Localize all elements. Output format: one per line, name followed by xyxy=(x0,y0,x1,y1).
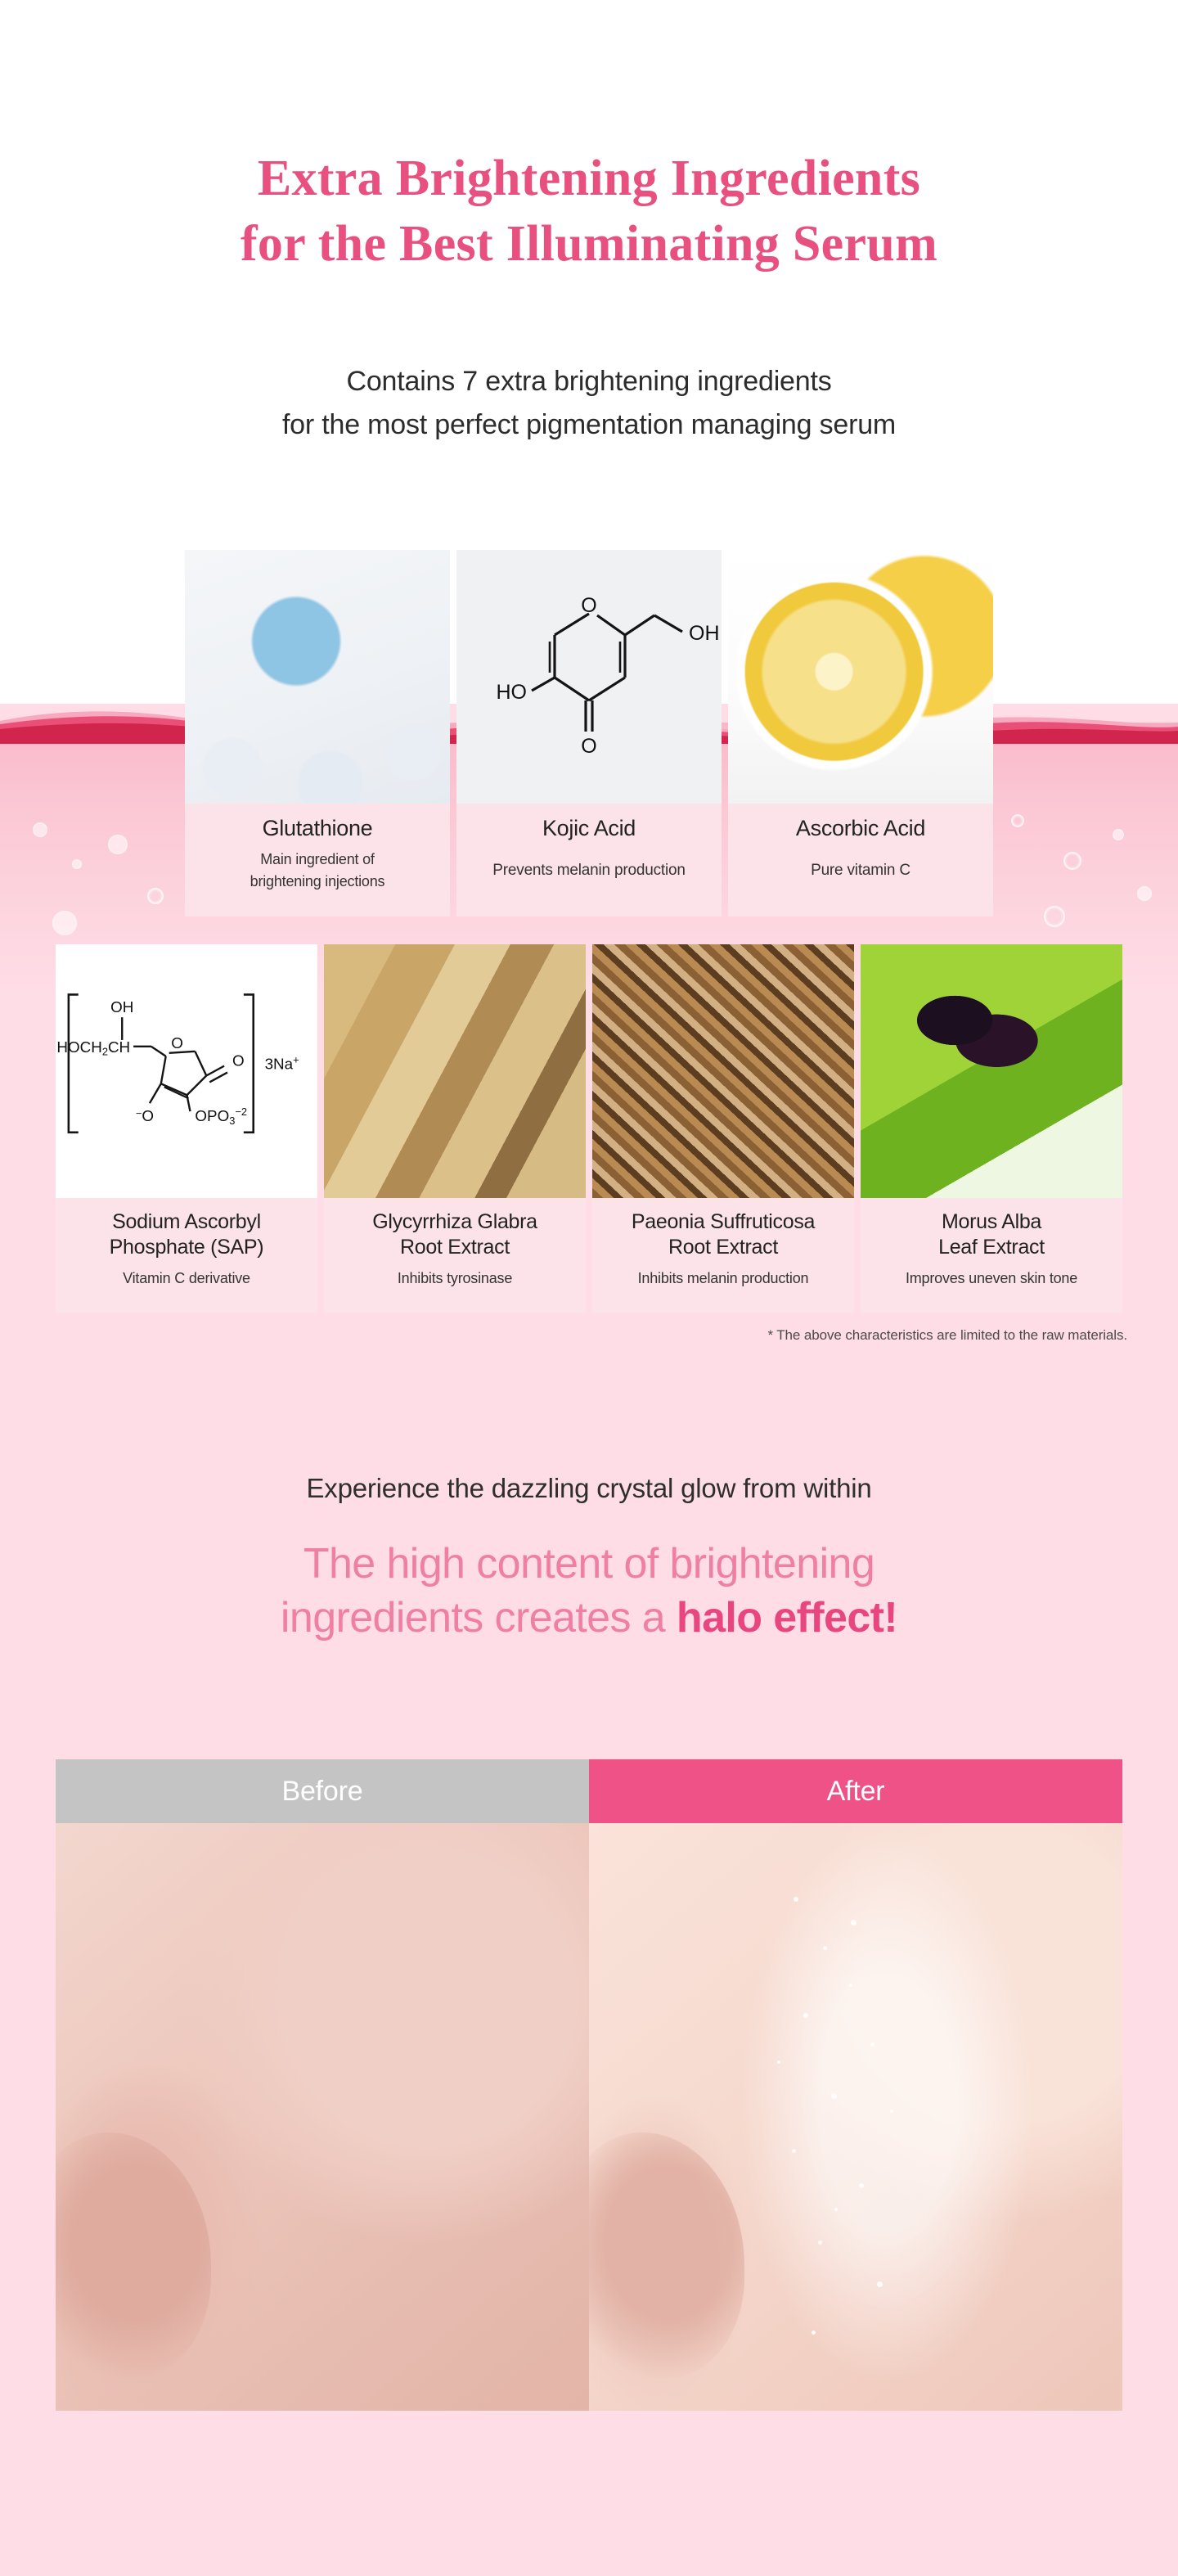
subtitle-line-2: for the most perfect pigmentation managi… xyxy=(0,403,1178,447)
ingredient-card-ascorbic-acid: Ascorbic Acid Pure vitamin C xyxy=(728,550,993,916)
title-line-2: for the Best Illuminating Serum xyxy=(0,211,1178,277)
blue-sphere-capsules-photo xyxy=(185,550,450,804)
bubble xyxy=(147,888,164,904)
ingredient-row-2: OH HOCH2CH O O −O OPO3−2 3Na+ Sodium Asc… xyxy=(56,944,1122,1313)
glow-speck xyxy=(859,2183,864,2188)
glow-speck xyxy=(792,2149,796,2153)
bubble xyxy=(1113,829,1124,840)
ingredient-desc-line-1: Pure vitamin C xyxy=(811,859,910,881)
mulberry-leaf-photo xyxy=(861,944,1122,1198)
card-caption: Glycyrrhiza Glabra Root Extract Inhibits… xyxy=(324,1198,586,1313)
halo-headline-line-2-prefix: ingredients creates a xyxy=(281,1594,677,1642)
bubble xyxy=(33,822,47,837)
ingredient-desc: Inhibits melanin production xyxy=(638,1268,809,1290)
nose-shadow xyxy=(56,2132,211,2378)
kojic-carbonyl-o-label: O xyxy=(581,735,596,758)
before-column: Before xyxy=(56,1759,589,2411)
after-skin-photo xyxy=(589,1823,1122,2411)
ingredient-name-line-2: Leaf Extract xyxy=(938,1235,1045,1260)
card-caption: Sodium Ascorbyl Phosphate (SAP) Vitamin … xyxy=(56,1198,317,1313)
sap-ring-o-label: O xyxy=(171,1034,183,1052)
ingredient-desc-line-1: Main ingredient of xyxy=(260,849,375,871)
glow-speck xyxy=(794,1897,798,1902)
before-label: Before xyxy=(56,1759,589,1823)
card-caption: Morus Alba Leaf Extract Improves uneven … xyxy=(861,1198,1122,1313)
glow-speck xyxy=(877,2281,883,2287)
sap-phosphate-label: OPO3−2 xyxy=(195,1106,247,1127)
ingredient-name-line-2: Root Extract xyxy=(668,1235,778,1260)
glow-speck xyxy=(851,1920,857,1925)
ingredient-name: Kojic Acid xyxy=(542,815,636,841)
subtitle-line-1: Contains 7 extra brightening ingredients xyxy=(0,360,1178,403)
peony-root-chips-photo xyxy=(592,944,854,1198)
halo-headline-line-1: The high content of brightening xyxy=(0,1537,1178,1591)
halo-effect-emphasis: halo effect! xyxy=(677,1594,897,1642)
sap-molecule-icon: OH HOCH2CH O O −O OPO3−2 3Na+ xyxy=(56,944,317,1184)
glow-speck xyxy=(870,2042,875,2047)
ingredient-row-1: Glutathione Main ingredient of brighteni… xyxy=(185,550,993,916)
kojic-acid-structure-diagram: O OH HO O xyxy=(456,550,722,804)
kojic-acid-molecule-icon: O OH HO O xyxy=(456,550,722,804)
nose-shadow xyxy=(589,2132,744,2378)
ingredient-name: Glutathione xyxy=(263,815,373,841)
ingredient-card-kojic-acid: O OH HO O Kojic Acid Prevents melanin pr… xyxy=(456,550,722,916)
ingredient-name-line-1: Sodium Ascorbyl xyxy=(112,1209,261,1235)
glow-speck xyxy=(812,2331,816,2335)
glow-speck xyxy=(831,2093,837,2099)
sap-minus-o-label: −O xyxy=(136,1107,154,1124)
sap-oh-label: OH xyxy=(110,998,133,1016)
card-caption: Glutathione Main ingredient of brighteni… xyxy=(185,804,450,916)
bubble xyxy=(1044,906,1065,927)
sap-counter-ion-label: 3Na+ xyxy=(265,1054,299,1073)
bubble xyxy=(1137,886,1152,901)
ingredient-desc: Inhibits tyrosinase xyxy=(398,1268,512,1290)
page-title: Extra Brightening Ingredients for the Be… xyxy=(0,146,1178,277)
lemon-slices-photo xyxy=(728,550,993,804)
after-column: After xyxy=(589,1759,1122,2411)
ingredient-name-line-2: Phosphate (SAP) xyxy=(110,1235,264,1260)
ingredient-name-line-1: Morus Alba xyxy=(942,1209,1041,1235)
ingredient-desc: Improves uneven skin tone xyxy=(906,1268,1077,1290)
ingredient-desc-line-1: Prevents melanin production xyxy=(492,859,685,881)
card-caption: Ascorbic Acid Pure vitamin C xyxy=(728,804,993,916)
glow-speck xyxy=(777,2060,780,2064)
sap-carbonyl-o-label: O xyxy=(232,1052,245,1070)
halo-headline: The high content of brightening ingredie… xyxy=(0,1537,1178,1645)
before-skin-photo xyxy=(56,1823,589,2411)
licorice-root-photo xyxy=(324,944,586,1198)
page-subtitle: Contains 7 extra brightening ingredients… xyxy=(0,360,1178,447)
sap-left-chain-label: HOCH2CH xyxy=(56,1038,130,1058)
ingredient-name-line-1: Glycyrrhiza Glabra xyxy=(372,1209,537,1235)
card-caption: Paeonia Suffruticosa Root Extract Inhibi… xyxy=(592,1198,854,1313)
kojic-ring-o-label: O xyxy=(581,594,596,617)
glow-speck xyxy=(849,1984,852,1987)
glow-speck xyxy=(834,2208,838,2211)
glow-speck xyxy=(803,2013,808,2018)
ingredient-card-glutathione: Glutathione Main ingredient of brighteni… xyxy=(185,550,450,916)
kojic-ho-label: HO xyxy=(497,681,528,704)
bubble xyxy=(108,835,128,854)
halo-lead-text: Experience the dazzling crystal glow fro… xyxy=(0,1473,1178,1504)
raw-materials-footnote: * The above characteristics are limited … xyxy=(0,1327,1178,1344)
bubble xyxy=(1063,852,1081,870)
after-label: After xyxy=(589,1759,1122,1823)
sodium-ascorbyl-phosphate-structure-diagram: OH HOCH2CH O O −O OPO3−2 3Na+ xyxy=(56,944,317,1198)
card-caption: Kojic Acid Prevents melanin production xyxy=(456,804,722,916)
ingredient-name-line-2: Root Extract xyxy=(400,1235,510,1260)
ingredient-name-line-1: Paeonia Suffruticosa xyxy=(632,1209,815,1235)
ingredient-card-sodium-ascorbyl-phosphate: OH HOCH2CH O O −O OPO3−2 3Na+ Sodium Asc… xyxy=(56,944,317,1313)
ingredient-desc: Vitamin C derivative xyxy=(123,1268,250,1290)
ingredient-card-morus-alba: Morus Alba Leaf Extract Improves uneven … xyxy=(861,944,1122,1313)
halo-headline-line-2: ingredients creates a halo effect! xyxy=(0,1591,1178,1645)
ingredient-name: Ascorbic Acid xyxy=(796,815,925,841)
bubble xyxy=(72,859,82,869)
ingredient-card-paeonia-suffruticosa: Paeonia Suffruticosa Root Extract Inhibi… xyxy=(592,944,854,1313)
title-line-1: Extra Brightening Ingredients xyxy=(0,146,1178,211)
glow-speck xyxy=(890,2110,893,2113)
kojic-oh-label: OH xyxy=(689,622,720,645)
ingredient-desc-line-2: brightening injections xyxy=(250,871,385,893)
before-after-comparison: Before After xyxy=(56,1759,1122,2411)
bubble xyxy=(52,911,77,935)
glow-speck xyxy=(823,1946,827,1950)
glow-speck xyxy=(818,2240,822,2245)
bubble xyxy=(1011,814,1024,827)
ingredient-card-glycyrrhiza-glabra: Glycyrrhiza Glabra Root Extract Inhibits… xyxy=(324,944,586,1313)
